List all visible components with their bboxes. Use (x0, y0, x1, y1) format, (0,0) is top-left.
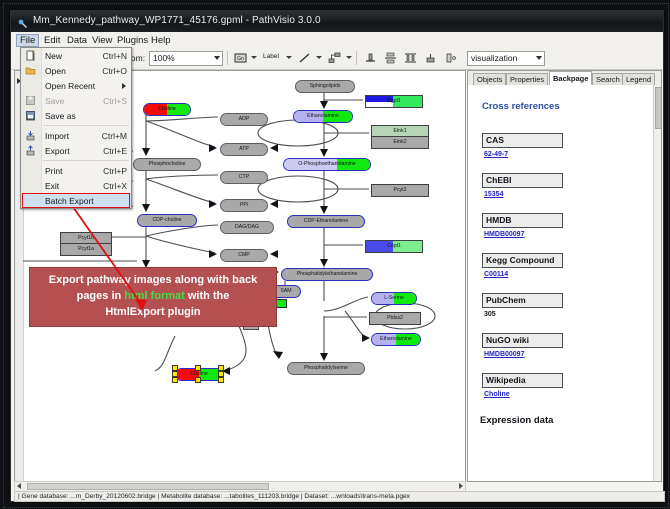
gene-label: Pcyt1b (78, 236, 94, 241)
node-l-serine[interactable]: L-Serine (371, 292, 417, 305)
db-value-kegg-compound[interactable]: C00114 (484, 271, 508, 278)
node-cdp-ethanolamine[interactable]: CDP-Ethanolamine (287, 215, 365, 228)
geneproduct-dropdown-arrow[interactable] (251, 56, 257, 59)
menu-item-label: Import (45, 131, 69, 141)
node-label: Phosphatidylethanolamine (297, 272, 358, 277)
application-window: Mm_Kennedy_pathway_WP1771_45176.gpml - P… (10, 10, 664, 502)
menu-file[interactable]: File (16, 34, 39, 47)
node-label: CDP-Ethanolamine (304, 219, 348, 224)
gene-label: Sgpl1 (387, 99, 400, 104)
batch-export-highlight-ring (22, 193, 130, 208)
align-stack-icon[interactable] (383, 51, 398, 65)
node-label: Ethanolamine (307, 114, 339, 119)
node-label: L-Serine (384, 296, 404, 301)
menu-item-shortcut: Ctrl+E (103, 146, 127, 156)
screenshot-root: Mm_Kennedy_pathway_WP1771_45176.gpml - P… (0, 0, 670, 509)
menu-item-import[interactable]: Import Ctrl+M (21, 128, 131, 143)
db-value-hmdb[interactable]: HMDB00097 (484, 231, 524, 238)
node-label: Phosphatidylserine (304, 366, 348, 371)
svg-text:Gn: Gn (237, 56, 244, 62)
new-document-icon (25, 50, 36, 61)
save-disk-icon (25, 95, 36, 106)
visualization-value: visualization (471, 53, 517, 63)
menu-divider-2 (43, 160, 129, 161)
db-header-nugo-wiki: NuGO wiki (482, 333, 563, 348)
menu-item-shortcut: Ctrl+O (102, 66, 127, 76)
node-choline[interactable]: Choline (143, 103, 191, 116)
node-label: O-Phosphoethanolamine (298, 162, 355, 167)
gene-label: Etnk2 (393, 140, 406, 145)
db-header-pubchem: PubChem (482, 293, 563, 308)
order-icon[interactable] (443, 51, 458, 65)
scroll-right-arrow-icon[interactable] (459, 483, 463, 489)
submenu-arrow-icon (122, 83, 126, 89)
interaction-dropdown-arrow[interactable] (346, 56, 352, 59)
node-label: ATP (239, 147, 249, 152)
node-ethanolamine-2[interactable]: Ethanolamine (371, 333, 421, 346)
save-as-icon (25, 110, 36, 121)
gene-ptdss2[interactable]: Ptdss2 (369, 312, 421, 325)
node-ctp[interactable]: CTP (220, 171, 268, 184)
annotation-callout: Export pathway images along with back pa… (29, 267, 277, 327)
visualization-combobox[interactable]: visualization (467, 51, 545, 66)
gene-etnk2[interactable]: Etnk2 (371, 136, 429, 149)
callout-line-1: Export pathway images along with back (30, 272, 276, 288)
label-tool-label[interactable]: Label (263, 53, 279, 60)
node-label: CMP (238, 253, 250, 258)
backpage-content: Cross references CAS 62-49-7 ChEBI 15354… (468, 85, 654, 481)
node-label: ADP (239, 117, 250, 122)
menu-item-label: New (45, 51, 62, 61)
gene-label: Pcyt1a (78, 247, 94, 252)
expression-data-title: Expression data (480, 415, 553, 426)
geneproduct-tool-button[interactable]: Gn (233, 51, 248, 65)
label-dropdown-arrow[interactable] (286, 56, 292, 59)
db-value-cas[interactable]: 62-49-7 (484, 151, 508, 158)
zoom-combobox[interactable]: 100% (149, 51, 223, 66)
menu-divider-1 (43, 125, 129, 126)
menu-item-label: Open Recent (45, 81, 95, 91)
callout-line-2-pre: pages in (77, 290, 125, 302)
menu-item-open-recent[interactable]: Open Recent (21, 78, 131, 93)
node-label: PPi (240, 203, 248, 208)
node-sphingolipids[interactable]: Sphingolipids (295, 80, 355, 93)
import-icon (25, 130, 36, 141)
callout-line-2-post: with the (185, 290, 230, 302)
gene-label: Etnk1 (393, 129, 406, 134)
side-panel-tabs: Objects Properties Backpage Search Legen… (468, 71, 661, 86)
db-header-hmdb: HMDB (482, 213, 563, 228)
toolbar-separator-2 (356, 51, 357, 65)
node-label: Phosphocholine (149, 162, 186, 167)
menu-item-label: Exit (45, 181, 59, 191)
menu-item-shortcut: Ctrl+P (103, 166, 127, 176)
toolbar-separator (227, 51, 228, 65)
side-panel-scrollbar[interactable] (653, 85, 661, 481)
menu-help[interactable]: Help (147, 34, 175, 47)
gene-label: Pcyt2 (394, 188, 407, 193)
side-panel: Objects Properties Backpage Search Legen… (467, 70, 662, 482)
db-header-cas: CAS (482, 133, 563, 148)
menu-item-shortcut: Ctrl+M (102, 131, 127, 141)
node-label: Choline (190, 372, 208, 377)
chevron-down-icon-2 (536, 56, 542, 60)
db-header-chebi: ChEBI (482, 173, 563, 188)
node-label: Choline (158, 107, 176, 112)
menu-item-export[interactable]: Export Ctrl+E (21, 143, 131, 158)
node-ppi[interactable]: PPi (220, 199, 268, 212)
menu-item-label: Print (45, 166, 62, 176)
menu-item-label: Export (45, 146, 70, 156)
node-cdp-choline[interactable]: CDP-choline (137, 214, 197, 227)
interaction-tool-icon[interactable] (327, 51, 342, 65)
db-value-pubchem: 305 (484, 311, 496, 318)
menu-edit[interactable]: Edit (40, 34, 64, 47)
status-bar: | Gene database: ...m_Derby_20120602.bri… (14, 491, 665, 502)
db-value-chebi[interactable]: 15354 (484, 191, 503, 198)
window-title: Mm_Kennedy_pathway_WP1771_45176.gpml - P… (33, 15, 321, 26)
db-header-kegg-compound: Kegg Compound (482, 253, 563, 268)
file-menu-dropdown[interactable]: New Ctrl+N Open Ctrl+O Open Recent Save (20, 47, 132, 209)
menu-item-print[interactable]: Print Ctrl+P (21, 163, 131, 178)
menu-item-batch-export[interactable]: Batch Export (21, 193, 131, 208)
gene-label: Cept1 (387, 244, 401, 249)
menu-data[interactable]: Data (63, 34, 91, 47)
node-label: SAM (280, 289, 291, 294)
zoom-value: 100% (153, 53, 175, 63)
canvas-scroll-thumb[interactable] (27, 483, 269, 490)
node-o-phosphoethanolamine[interactable]: O-Phosphoethanolamine (283, 158, 371, 171)
side-panel-scroll-thumb[interactable] (655, 87, 662, 129)
chevron-down-icon (214, 56, 220, 60)
gene-sgpl1[interactable]: Sgpl1 (365, 95, 423, 108)
menu-item-open[interactable]: Open Ctrl+O (21, 63, 131, 78)
node-adp[interactable]: ADP (220, 113, 268, 126)
gene-label: Ptdss2 (387, 316, 403, 321)
node-cmp[interactable]: CMP (220, 249, 268, 262)
callout-line-3: HtmlExport plugin (30, 304, 276, 320)
callout-highlight: html format (124, 290, 185, 302)
node-phosphocholine[interactable]: Phosphocholine (133, 158, 201, 171)
menu-item-new[interactable]: New Ctrl+N (21, 48, 131, 63)
menu-item-shortcut: Ctrl+S (103, 96, 127, 106)
db-header-wikipedia: Wikipedia (482, 373, 563, 388)
scroll-left-arrow-icon[interactable] (17, 483, 21, 489)
gene-cept1[interactable]: Cept1 (365, 240, 423, 253)
pathvisio-app-icon (17, 16, 28, 27)
db-value-wikipedia[interactable]: Choline (484, 391, 510, 398)
node-atp[interactable]: ATP (220, 143, 268, 156)
align-top-icon[interactable] (363, 51, 378, 65)
cross-references-title: Cross references (482, 101, 560, 112)
node-label: DAG/DAG (235, 225, 259, 230)
menu-item-shortcut: Ctrl+N (103, 51, 127, 61)
distribute-icon[interactable] (403, 51, 418, 65)
db-value-nugo-wiki[interactable]: HMDB00097 (484, 351, 524, 358)
line-tool-icon[interactable] (297, 51, 312, 65)
node-ethanolamine[interactable]: Ethanolamine (293, 110, 353, 123)
callout-line-2: pages in html format with the (30, 288, 276, 304)
node-label: Sphingolipids (310, 84, 341, 89)
gene-pcyt2[interactable]: Pcyt2 (371, 184, 429, 197)
tab-backpage[interactable]: Backpage (549, 71, 592, 86)
node-phosphatidylethanolamine[interactable]: Phosphatidylethanolamine (281, 268, 373, 281)
node-label: Ethanolamine (380, 337, 412, 342)
export-icon (25, 145, 36, 156)
node-label: CDP-choline (152, 218, 181, 223)
line-dropdown-arrow[interactable] (316, 56, 322, 59)
menu-item-label: Open (45, 66, 66, 76)
menu-bar: File Edit Data View Plugins Help (11, 32, 663, 48)
title-bar: Mm_Kennedy_pathway_WP1771_45176.gpml - P… (11, 11, 663, 32)
gene-pcyt1a[interactable]: Pcyt1a (60, 243, 112, 256)
open-folder-icon (25, 65, 36, 76)
menu-item-save: Save Ctrl+S (21, 93, 131, 108)
node-label: CTP (239, 175, 249, 180)
menu-item-shortcut: Ctrl+X (103, 181, 127, 191)
menu-item-label: Save (45, 96, 64, 106)
group-icon[interactable] (423, 51, 438, 65)
menu-item-save-as[interactable]: Save as (21, 108, 131, 123)
menu-item-exit[interactable]: Exit Ctrl+X (21, 178, 131, 193)
node-phosphatidylserine[interactable]: Phosphatidylserine (287, 362, 365, 375)
menu-item-label: Save as (45, 111, 76, 121)
node-dag-dag[interactable]: DAG/DAG (220, 221, 274, 234)
